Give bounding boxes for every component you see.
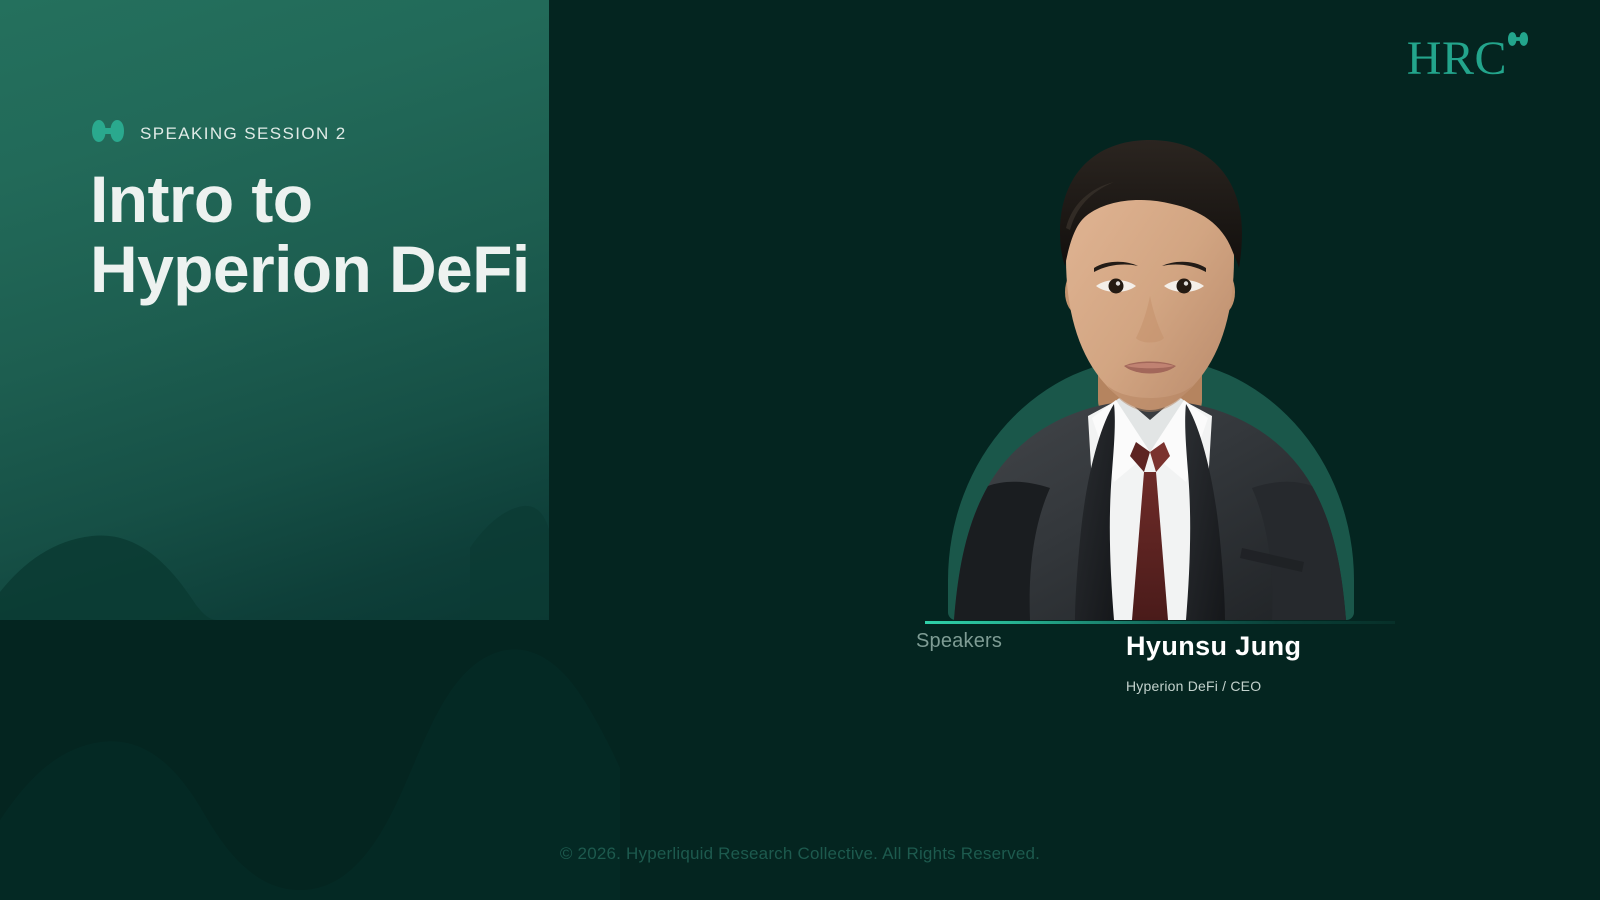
session-eyebrow: SPEAKING SESSION 2 (92, 120, 347, 147)
speaker-name: Hyunsu Jung (1126, 630, 1301, 662)
bowtie-icon (92, 120, 124, 147)
copyright-text: © 2026. Hyperliquid Research Collective.… (560, 844, 1040, 864)
title-line-2: Hyperion DeFi (90, 234, 560, 304)
presentation-slide: SPEAKING SESSION 2 Intro to Hyperion DeF… (0, 0, 1600, 900)
slide-title: Intro to Hyperion DeFi (90, 164, 560, 304)
bowtie-icon (1508, 32, 1528, 51)
hrc-logo-text: HRC (1407, 36, 1507, 82)
slide-footer: © 2026. Hyperliquid Research Collective.… (0, 808, 1600, 900)
speaker-portrait-zone (900, 100, 1400, 620)
left-title-panel (0, 0, 549, 620)
hrc-logo[interactable]: HRC (1407, 36, 1528, 82)
speaker-info: Hyunsu Jung Hyperion DeFi / CEO (1126, 630, 1301, 694)
session-label: SPEAKING SESSION 2 (140, 124, 347, 144)
speaker-role: Hyperion DeFi / CEO (1126, 678, 1301, 694)
panel-wave-shape-icon (0, 500, 549, 620)
speaker-divider (925, 621, 1395, 624)
speakers-label: Speakers (916, 630, 1002, 653)
title-line-1: Intro to (90, 164, 560, 234)
speaker-photo (900, 100, 1400, 620)
panel-wave-overlay (0, 500, 549, 620)
